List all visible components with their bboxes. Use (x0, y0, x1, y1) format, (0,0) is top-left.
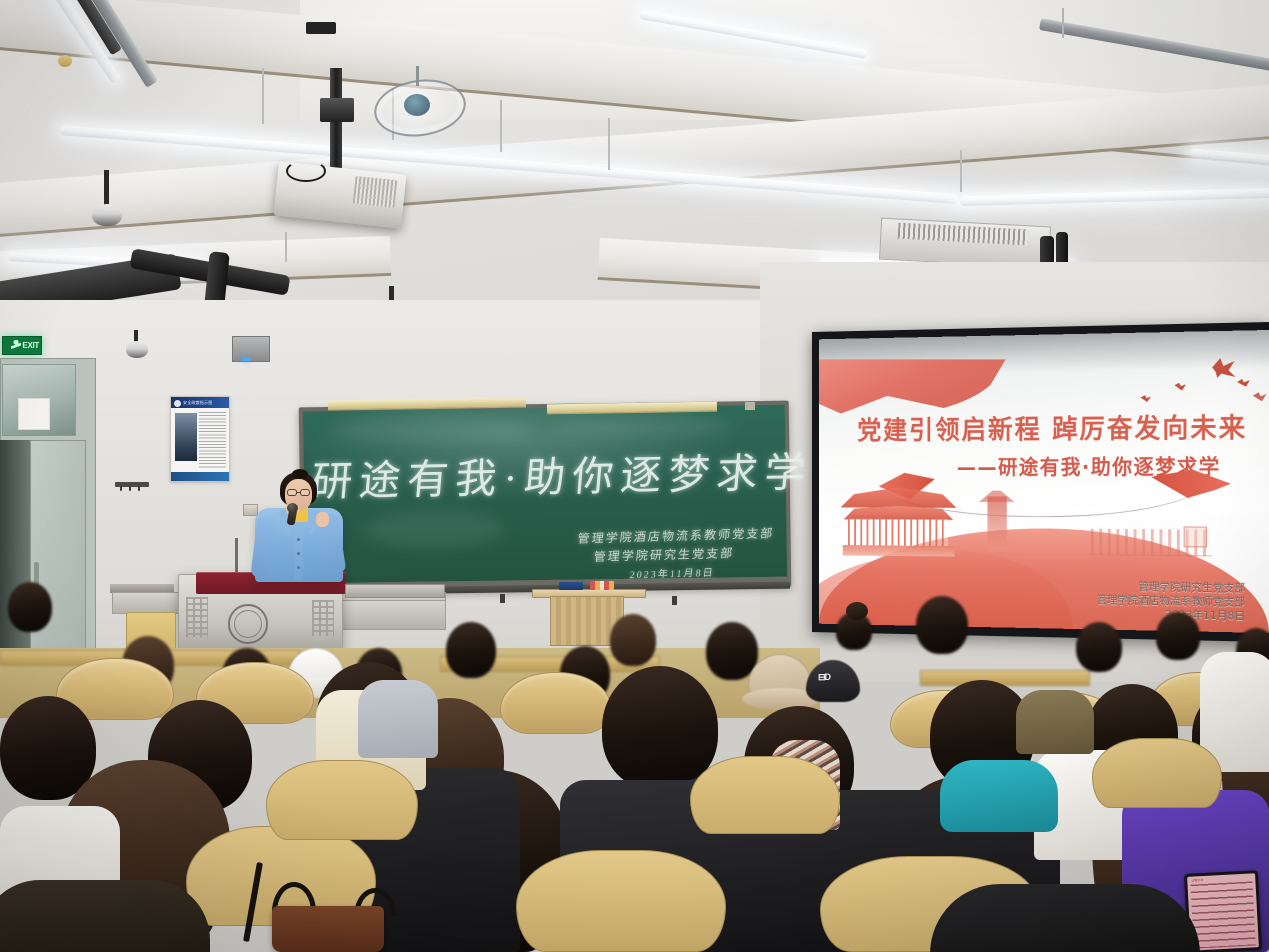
chalk-box-colored (590, 581, 614, 590)
audience-head-f5 (446, 622, 496, 678)
audience-body-olive (1016, 690, 1094, 754)
seat-near-6 (1092, 738, 1222, 808)
speaker-coat-button-1 (297, 538, 300, 541)
projector-mount-plate (306, 22, 336, 34)
audience-head-f7 (610, 614, 656, 666)
light-hanger-1 (262, 68, 264, 124)
projector-cable (286, 160, 326, 182)
coat-hook-2 (129, 486, 131, 491)
seat-near-5 (690, 756, 840, 834)
side-desk-panel (340, 600, 446, 630)
foreground-shoulder-left (0, 880, 210, 952)
chalk-box-blue (559, 582, 583, 590)
wall-poster: 安全疏散指示图 (170, 396, 230, 482)
poster-title: 安全疏散指示图 (183, 400, 212, 406)
ceiling-fan-hub (404, 94, 430, 116)
projector-vent (353, 176, 398, 208)
audience-hair-bun (846, 602, 868, 620)
dome-camera-stem (104, 170, 109, 208)
slide-org-line-2: 管理学院酒店物流系教师党支部 (1096, 593, 1245, 609)
light-hanger-7 (1062, 8, 1064, 38)
speaker-glasses-right (300, 489, 310, 496)
chalk-smudge-3 (364, 509, 505, 551)
podium-control-panel (345, 584, 445, 598)
phone-screen-title: 议程安排 (1191, 878, 1203, 883)
bench-row-far-3 (920, 670, 1090, 686)
poster-image (175, 413, 197, 461)
poster-logo-icon (174, 400, 181, 407)
chalk-smudge-2 (553, 415, 733, 440)
speaker-glasses-bridge (297, 492, 300, 493)
audience-head-f12 (1156, 612, 1200, 660)
running-man-icon (11, 340, 21, 352)
projection-screen: 党建引领启新程 踔厉奋发向未来 ——研途有我·助你逐梦求学 管理学院研究生党支部… (819, 330, 1269, 633)
speaker-hand-right (316, 512, 329, 527)
gate-columns (848, 519, 948, 547)
exit-sign: EXIT (2, 336, 42, 355)
light-hanger-5 (285, 232, 287, 262)
speaker-hair-bun (292, 469, 308, 479)
door-notice (18, 398, 50, 430)
leather-bag (272, 906, 384, 952)
slide-background: 党建引领启新程 踔厉奋发向未来 ——研途有我·助你逐梦求学 管理学院研究生党支部… (819, 330, 1269, 633)
blackboard-signature-date: 2023年11月8日 (629, 564, 716, 581)
red-flag-banner-top (819, 356, 1006, 416)
projector-mount-bracket (320, 98, 354, 122)
slide-title: 党建引领启新程 踔厉奋发向未来 (857, 406, 1247, 447)
seat-near-4 (266, 760, 418, 840)
blackboard-valance-bracket (745, 402, 755, 410)
gate-roof-upper (840, 487, 957, 508)
phone-screen-text (1191, 881, 1256, 948)
poster-footer-band (171, 472, 229, 481)
seat-mid-3 (500, 672, 612, 734)
exit-sign-label: EXIT (22, 341, 41, 350)
seat-near-2 (516, 850, 726, 952)
wall-outlet-plate (243, 504, 258, 516)
blackboard-headline: 研途有我·助你逐梦求学 (309, 438, 816, 508)
dome-camera-wall (126, 341, 148, 358)
chalk-tray-bracket-3 (672, 596, 677, 605)
podium-vent-right (312, 600, 334, 636)
audience-head-m5 (602, 666, 718, 790)
foreground-shoulder-right (930, 884, 1200, 952)
audience-head-f1 (8, 582, 52, 632)
ceiling-fan-arm (416, 66, 419, 86)
av-led-indicator (242, 358, 250, 361)
light-hanger-6 (960, 150, 962, 192)
dove-icon-3 (1174, 383, 1186, 391)
speaker-microphone-head (287, 503, 298, 513)
speaker-coat-button-3 (297, 566, 300, 569)
speaker-coat-button-2 (297, 552, 300, 555)
chalk-tray-bracket-2 (500, 594, 505, 603)
dove-icon-5 (1253, 392, 1267, 401)
audience-body-teal-collar (940, 760, 1058, 832)
audience-head-f10 (916, 596, 968, 654)
monument-illustration (988, 496, 1007, 552)
poster-text-lines (199, 412, 226, 469)
dome-camera-ceiling (92, 204, 122, 226)
speaker-glasses-left (287, 489, 297, 496)
light-hanger-3 (500, 100, 502, 152)
dove-icon-2 (1237, 379, 1250, 387)
classroom-photo-scene: EXIT 安全疏散指示图 研途有我·助你逐梦求学 管理学院酒店物流系教师党支部 … (0, 0, 1269, 952)
podium-university-emblem (228, 604, 268, 644)
coat-hook-3 (138, 486, 140, 491)
av-control-box (232, 336, 270, 362)
audience-cap-logo: ⊟D (818, 672, 830, 683)
dove-icon-4 (1141, 395, 1152, 402)
chalk-smudge-1 (333, 414, 533, 445)
cable-clip (58, 55, 72, 67)
great-wall-tower (1184, 526, 1207, 547)
coat-hook-1 (120, 486, 122, 491)
podium-vent-left (186, 597, 208, 637)
gate-base (842, 545, 954, 557)
audience-head-f11 (1076, 622, 1122, 672)
tiananmen-gate-illustration (840, 487, 957, 557)
audience-body-grey (358, 680, 438, 758)
light-hanger-4 (608, 118, 610, 170)
